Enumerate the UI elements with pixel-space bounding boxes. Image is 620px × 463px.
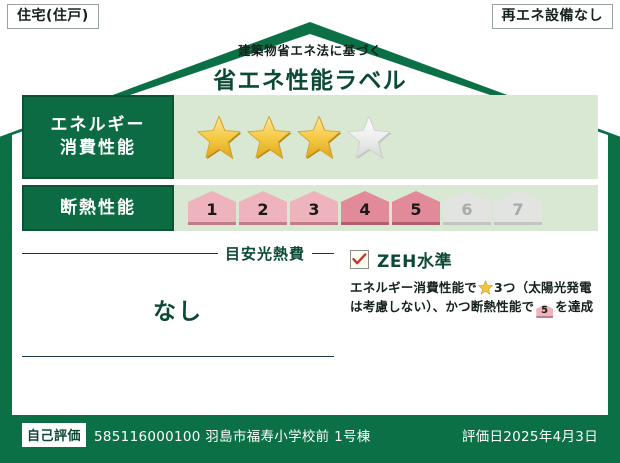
- zeh-description: エネルギー消費性能で 3つ（太陽光発電 は考慮しない）、かつ断熱性能で5を達成: [350, 278, 598, 318]
- footer-evaluation-date: 評価日2025年4月3日: [462, 425, 598, 445]
- lower-section: 目安光熱費 なし ZEH水準 エネルギー消費性能で: [22, 241, 598, 357]
- inline-star-icon: [478, 280, 493, 295]
- check-icon: [352, 253, 367, 266]
- insulation-grade-scale: 1234567: [188, 191, 542, 225]
- estimated-utility-cost-block: 目安光熱費 なし: [22, 241, 334, 357]
- zeh-block: ZEH水準 エネルギー消費性能で 3つ（太陽光発電 は考慮しない）、かつ断熱性能…: [334, 241, 598, 357]
- zeh-checkbox[interactable]: [350, 250, 369, 269]
- zeh-desc-part1: エネルギー消費性能で: [350, 280, 477, 295]
- cost-heading: 目安光熱費: [22, 243, 334, 264]
- insulation-performance-label-box: 断熱性能: [22, 185, 174, 231]
- insulation-grade-3: 3: [290, 191, 338, 225]
- footer-id-address: 585116000100 羽島市福寿小学校前 1号棟: [94, 425, 371, 445]
- cost-value: なし: [22, 264, 334, 356]
- self-evaluation-badge: 自己評価: [22, 423, 86, 447]
- badge-building-type: 住宅(住戸): [7, 4, 99, 29]
- insulation-grade-1: 1: [188, 191, 236, 225]
- zeh-desc-part3: を達成: [555, 299, 593, 314]
- title-subtitle: 建築物省エネ法に基づく: [0, 40, 620, 59]
- insulation-performance-row: 断熱性能 1234567: [22, 185, 598, 231]
- cost-rule-right: [312, 253, 334, 254]
- zeh-title-row: ZEH水準: [350, 247, 598, 272]
- page-title: 省エネ性能ラベル: [0, 61, 620, 95]
- badge-renewable-equipment: 再エネ設備なし: [492, 4, 614, 29]
- insulation-performance-value: 1234567: [174, 185, 598, 231]
- cost-heading-text: 目安光熱費: [225, 243, 305, 264]
- label-content: エネルギー 消費性能 断熱性能 1234567 目安光熱費 なし: [22, 95, 598, 357]
- energy-label-line2: 消費性能: [60, 137, 136, 160]
- energy-label-line1: エネルギー: [51, 114, 146, 137]
- inline-grade-badge: 5: [536, 304, 553, 318]
- insulation-grade-6: 6: [443, 191, 491, 225]
- star-filled-icon: [296, 114, 342, 160]
- zeh-desc-star-count: 3つ（太陽光発電: [494, 280, 592, 295]
- energy-performance-row: エネルギー 消費性能: [22, 95, 598, 179]
- zeh-title: ZEH水準: [377, 247, 452, 272]
- insulation-grade-5: 5: [392, 191, 440, 225]
- energy-performance-label: 住宅(住戸) 再エネ設備なし 建築物省エネ法に基づく 省エネ性能ラベル エネルギ…: [0, 0, 620, 463]
- star-filled-icon: [196, 114, 242, 160]
- insulation-grade-4: 4: [341, 191, 389, 225]
- energy-performance-value: [174, 95, 598, 179]
- insulation-grade-7: 7: [494, 191, 542, 225]
- zeh-desc-part2: は考慮しない）、かつ断熱性能で: [350, 299, 534, 314]
- energy-performance-label-box: エネルギー 消費性能: [22, 95, 174, 179]
- label-title-block: 建築物省エネ法に基づく 省エネ性能ラベル: [0, 40, 620, 95]
- cost-rule-left: [22, 253, 218, 254]
- cost-underline: [22, 356, 334, 357]
- star-filled-icon: [246, 114, 292, 160]
- star-rating: [196, 114, 392, 160]
- star-empty-icon: [346, 114, 392, 160]
- label-footer: 自己評価 585116000100 羽島市福寿小学校前 1号棟 評価日2025年…: [12, 419, 608, 451]
- insulation-grade-2: 2: [239, 191, 287, 225]
